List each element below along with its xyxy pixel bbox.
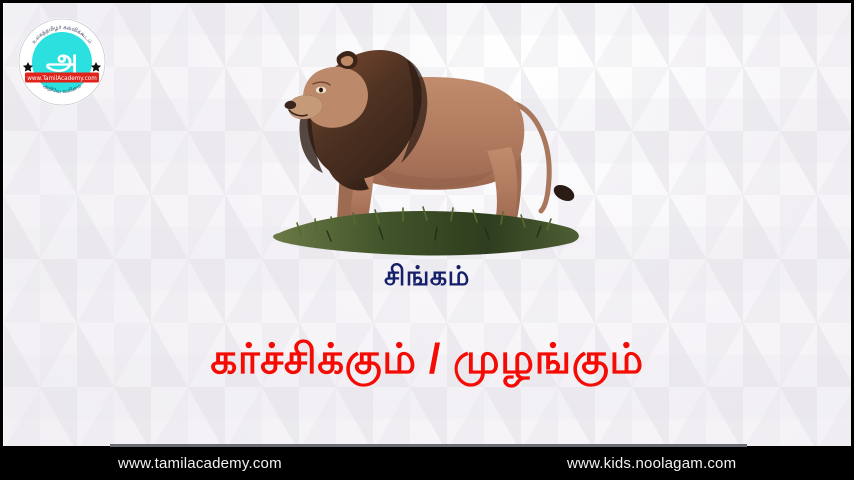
tamil-academy-logo[interactable]: உலகத்தமிழர் கல்விக்கூடம் அறிவே வலிமை அ w… [17,17,107,107]
flashcard: உலகத்தமிழர் கல்விக்கூடம் அறிவே வலிமை அ w… [0,0,854,480]
lion-illustration [231,11,641,261]
footer-divider [110,444,747,447]
sound-phrase-tamil: கர்ச்சிக்கும் / முழங்கும் [3,335,851,389]
footer-link-tamilacademy[interactable]: www.tamilacademy.com [118,455,282,472]
logo-banner-text: www.TamilAcademy.com [27,76,97,82]
card-stage: உலகத்தமிழர் கல்விக்கூடம் அறிவே வலிமை அ w… [3,3,851,446]
footer-link-noolagam[interactable]: www.kids.noolagam.com [567,455,736,472]
logo-center-letter: அ [46,42,78,76]
animal-name-tamil: சிங்கம் [3,261,851,296]
